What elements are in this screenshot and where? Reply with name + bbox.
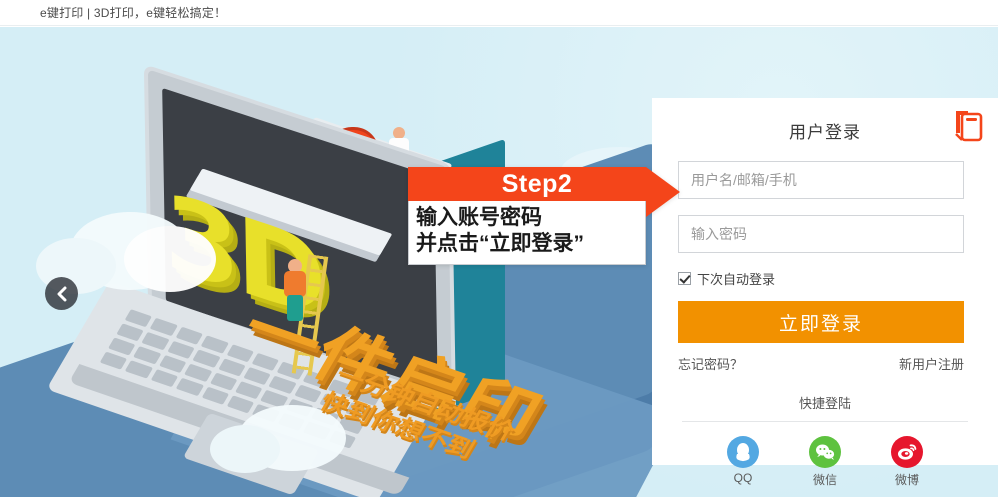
remember-me-label[interactable]: 下次自动登录 — [697, 269, 775, 288]
forgot-password-link[interactable]: 忘记密码？ — [678, 354, 743, 373]
social-login-qq-label: QQ — [719, 471, 767, 485]
username-input[interactable] — [678, 161, 964, 199]
carousel-prev-button[interactable] — [45, 277, 78, 310]
login-panel: 用户登录 下次自动登录 立即登录 忘记密码？ 新用户注册 快捷登陆 — [652, 98, 998, 465]
remember-me-row: 下次自动登录 — [678, 269, 972, 288]
step2-callout: Step2 输入账号密码 并点击“立即登录” — [408, 167, 646, 265]
social-login-row: QQ — [678, 436, 972, 488]
social-login-weibo[interactable]: 微博 — [883, 436, 931, 488]
login-submit-button[interactable]: 立即登录 — [678, 301, 964, 343]
wechat-icon — [809, 436, 841, 468]
step2-label: Step2 — [482, 170, 573, 199]
login-title: 用户登录 — [652, 98, 998, 143]
social-login-qq[interactable]: QQ — [719, 436, 767, 488]
quick-login-divider — [682, 421, 968, 422]
top-bar: e键打印 | 3D打印，e键轻松搞定！ — [0, 0, 998, 26]
site-slogan: e键打印 | 3D打印，e键轻松搞定！ — [40, 4, 226, 21]
login-form: 下次自动登录 立即登录 忘记密码？ 新用户注册 快捷登陆 QQ — [652, 143, 998, 488]
social-login-wechat[interactable]: 微信 — [801, 436, 849, 488]
step2-callout-header: Step2 — [408, 167, 646, 201]
password-input[interactable] — [678, 215, 964, 253]
weibo-icon — [891, 436, 923, 468]
social-login-weibo-label: 微博 — [883, 471, 931, 488]
step2-callout-body: 输入账号密码 并点击“立即登录” — [408, 201, 646, 265]
social-login-wechat-label: 微信 — [801, 471, 849, 488]
qq-icon — [727, 436, 759, 468]
remember-me-checkbox[interactable] — [678, 272, 691, 285]
chevron-left-icon — [56, 286, 68, 302]
quick-login-title: 快捷登陆 — [678, 393, 972, 412]
qr-scan-phone-icon[interactable] — [952, 108, 986, 144]
login-links-row: 忘记密码？ 新用户注册 — [678, 354, 964, 373]
page-root: e键打印 | 3D打印，e键轻松搞定！ 3D Printer — [0, 0, 998, 497]
step2-instruction-line2: 并点击“立即登录” — [416, 231, 638, 257]
step2-instruction-line1: 输入账号密码 — [416, 205, 638, 231]
register-link[interactable]: 新用户注册 — [899, 354, 964, 373]
cloud-decor-1 — [70, 212, 190, 290]
callout-arrow-icon — [646, 167, 680, 217]
